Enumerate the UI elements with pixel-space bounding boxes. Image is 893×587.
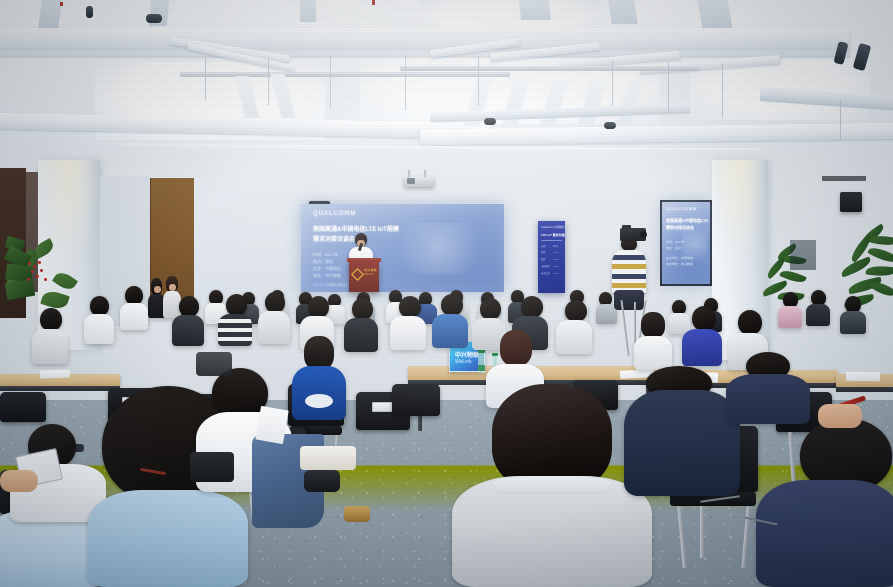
banner-item: 09:30 bbox=[553, 259, 558, 263]
shoe bbox=[304, 470, 340, 492]
paper-document bbox=[846, 372, 880, 382]
attendee bbox=[682, 306, 722, 366]
attendee bbox=[172, 296, 204, 346]
attendee bbox=[840, 296, 866, 334]
hand bbox=[0, 470, 38, 492]
attendee bbox=[344, 298, 378, 352]
attendee bbox=[806, 290, 830, 326]
attendee bbox=[84, 296, 114, 344]
secondary-projection-screen: QUALCOMM 美国高通&中国电信LTE IoT 需求对接洽谈会 时间：201… bbox=[662, 202, 710, 284]
screen-body-line-3: 主办：中国电信 bbox=[313, 266, 341, 273]
wall-speaker-icon bbox=[840, 192, 862, 212]
secondary-screen-brand: QUALCOMM bbox=[666, 206, 697, 211]
paper-document bbox=[255, 406, 288, 444]
screen-body-line-2: 地点：深圳 bbox=[313, 259, 333, 266]
bag bbox=[190, 452, 234, 482]
secondary-body-line: 时间：2017年 bbox=[666, 240, 685, 245]
banner-col-right: 时间 bbox=[553, 245, 558, 249]
videographer bbox=[612, 232, 646, 310]
podium: 中兴物联 WeLink bbox=[349, 262, 379, 292]
table-sign-cn: 中兴物联 bbox=[455, 350, 479, 359]
attendee bbox=[292, 336, 346, 420]
secondary-display-bezel: QUALCOMM 美国高通&中国电信LTE IoT 需求对接洽谈会 时间：201… bbox=[660, 200, 712, 286]
podium-logo-cn: 中兴物联 bbox=[364, 269, 377, 272]
plant-left bbox=[6, 238, 86, 316]
shoe bbox=[344, 506, 370, 522]
chair[interactable] bbox=[0, 392, 46, 422]
banner-item: 10:00 bbox=[553, 266, 558, 270]
banner-item: 11:00 bbox=[553, 273, 558, 277]
screen-body-line-1: 时间：2017年 bbox=[313, 252, 338, 259]
attendee bbox=[120, 286, 148, 330]
spotlight-icon bbox=[146, 14, 162, 23]
secondary-screen-title2: 需求对接洽谈会 bbox=[666, 225, 694, 231]
attendee-foreground bbox=[452, 384, 652, 587]
banner-item: 致辞 bbox=[541, 259, 545, 263]
handbag bbox=[300, 446, 356, 470]
video-camera-icon bbox=[620, 228, 646, 241]
attendee bbox=[258, 292, 290, 344]
attendee bbox=[390, 296, 426, 350]
attendee bbox=[432, 294, 468, 348]
attendee bbox=[32, 308, 68, 364]
hand bbox=[818, 404, 862, 428]
banner-item: 主题演讲 bbox=[541, 266, 550, 270]
spotlight-icon bbox=[604, 122, 616, 129]
screen-body-line-4: 承办：中兴物联 bbox=[313, 273, 341, 280]
rollup-banner: Qualcomm 中国电信 LTE IoT 需求对接洽谈会 议程 时间 签到 0… bbox=[538, 221, 565, 293]
eyeglasses-icon bbox=[70, 444, 84, 452]
secondary-body-line: 主办单位：中国电信 bbox=[666, 256, 693, 261]
spotlight-icon bbox=[484, 118, 496, 125]
attendee-foreground bbox=[624, 366, 740, 496]
conference-room-photo: QUALCOMM 美国高通&中国电信LTE IoT规模 需求对接洽谈会 时间：2… bbox=[0, 0, 893, 587]
attendee bbox=[778, 292, 802, 328]
banner-headline: LTE IoT 需求对接洽谈会 bbox=[541, 233, 565, 237]
banner-top-label: Qualcomm 中国电信 bbox=[541, 225, 565, 229]
screen-brand-logo: QUALCOMM bbox=[313, 211, 356, 217]
attendee-foreground bbox=[756, 418, 893, 587]
podium-logo-en: WeLink bbox=[364, 274, 374, 277]
attendee bbox=[556, 300, 592, 354]
banner-col-left: 议程 bbox=[541, 245, 546, 249]
secondary-body-line: 承办单位：中兴物联 bbox=[666, 262, 693, 267]
chair[interactable] bbox=[392, 384, 440, 416]
banner-item: 09:00 bbox=[553, 252, 558, 256]
bag bbox=[196, 352, 232, 376]
projector-icon bbox=[404, 176, 434, 187]
banner-item: 技术交流 bbox=[541, 273, 550, 277]
table-sign-en: WeLink bbox=[455, 359, 472, 365]
paper-document bbox=[40, 369, 70, 378]
spotlight-icon bbox=[86, 6, 93, 18]
screen-footer: LTE IoT 规模商用推进 bbox=[313, 283, 347, 288]
banner-item: 签到 bbox=[541, 252, 545, 256]
attendee-foreground bbox=[726, 352, 810, 424]
secondary-body-line: 地点：深圳 bbox=[666, 246, 681, 251]
attendee bbox=[218, 294, 252, 346]
main-projection-screen: QUALCOMM 美国高通&中国电信LTE IoT规模 需求对接洽谈会 时间：2… bbox=[301, 204, 504, 292]
attendee bbox=[634, 312, 672, 370]
